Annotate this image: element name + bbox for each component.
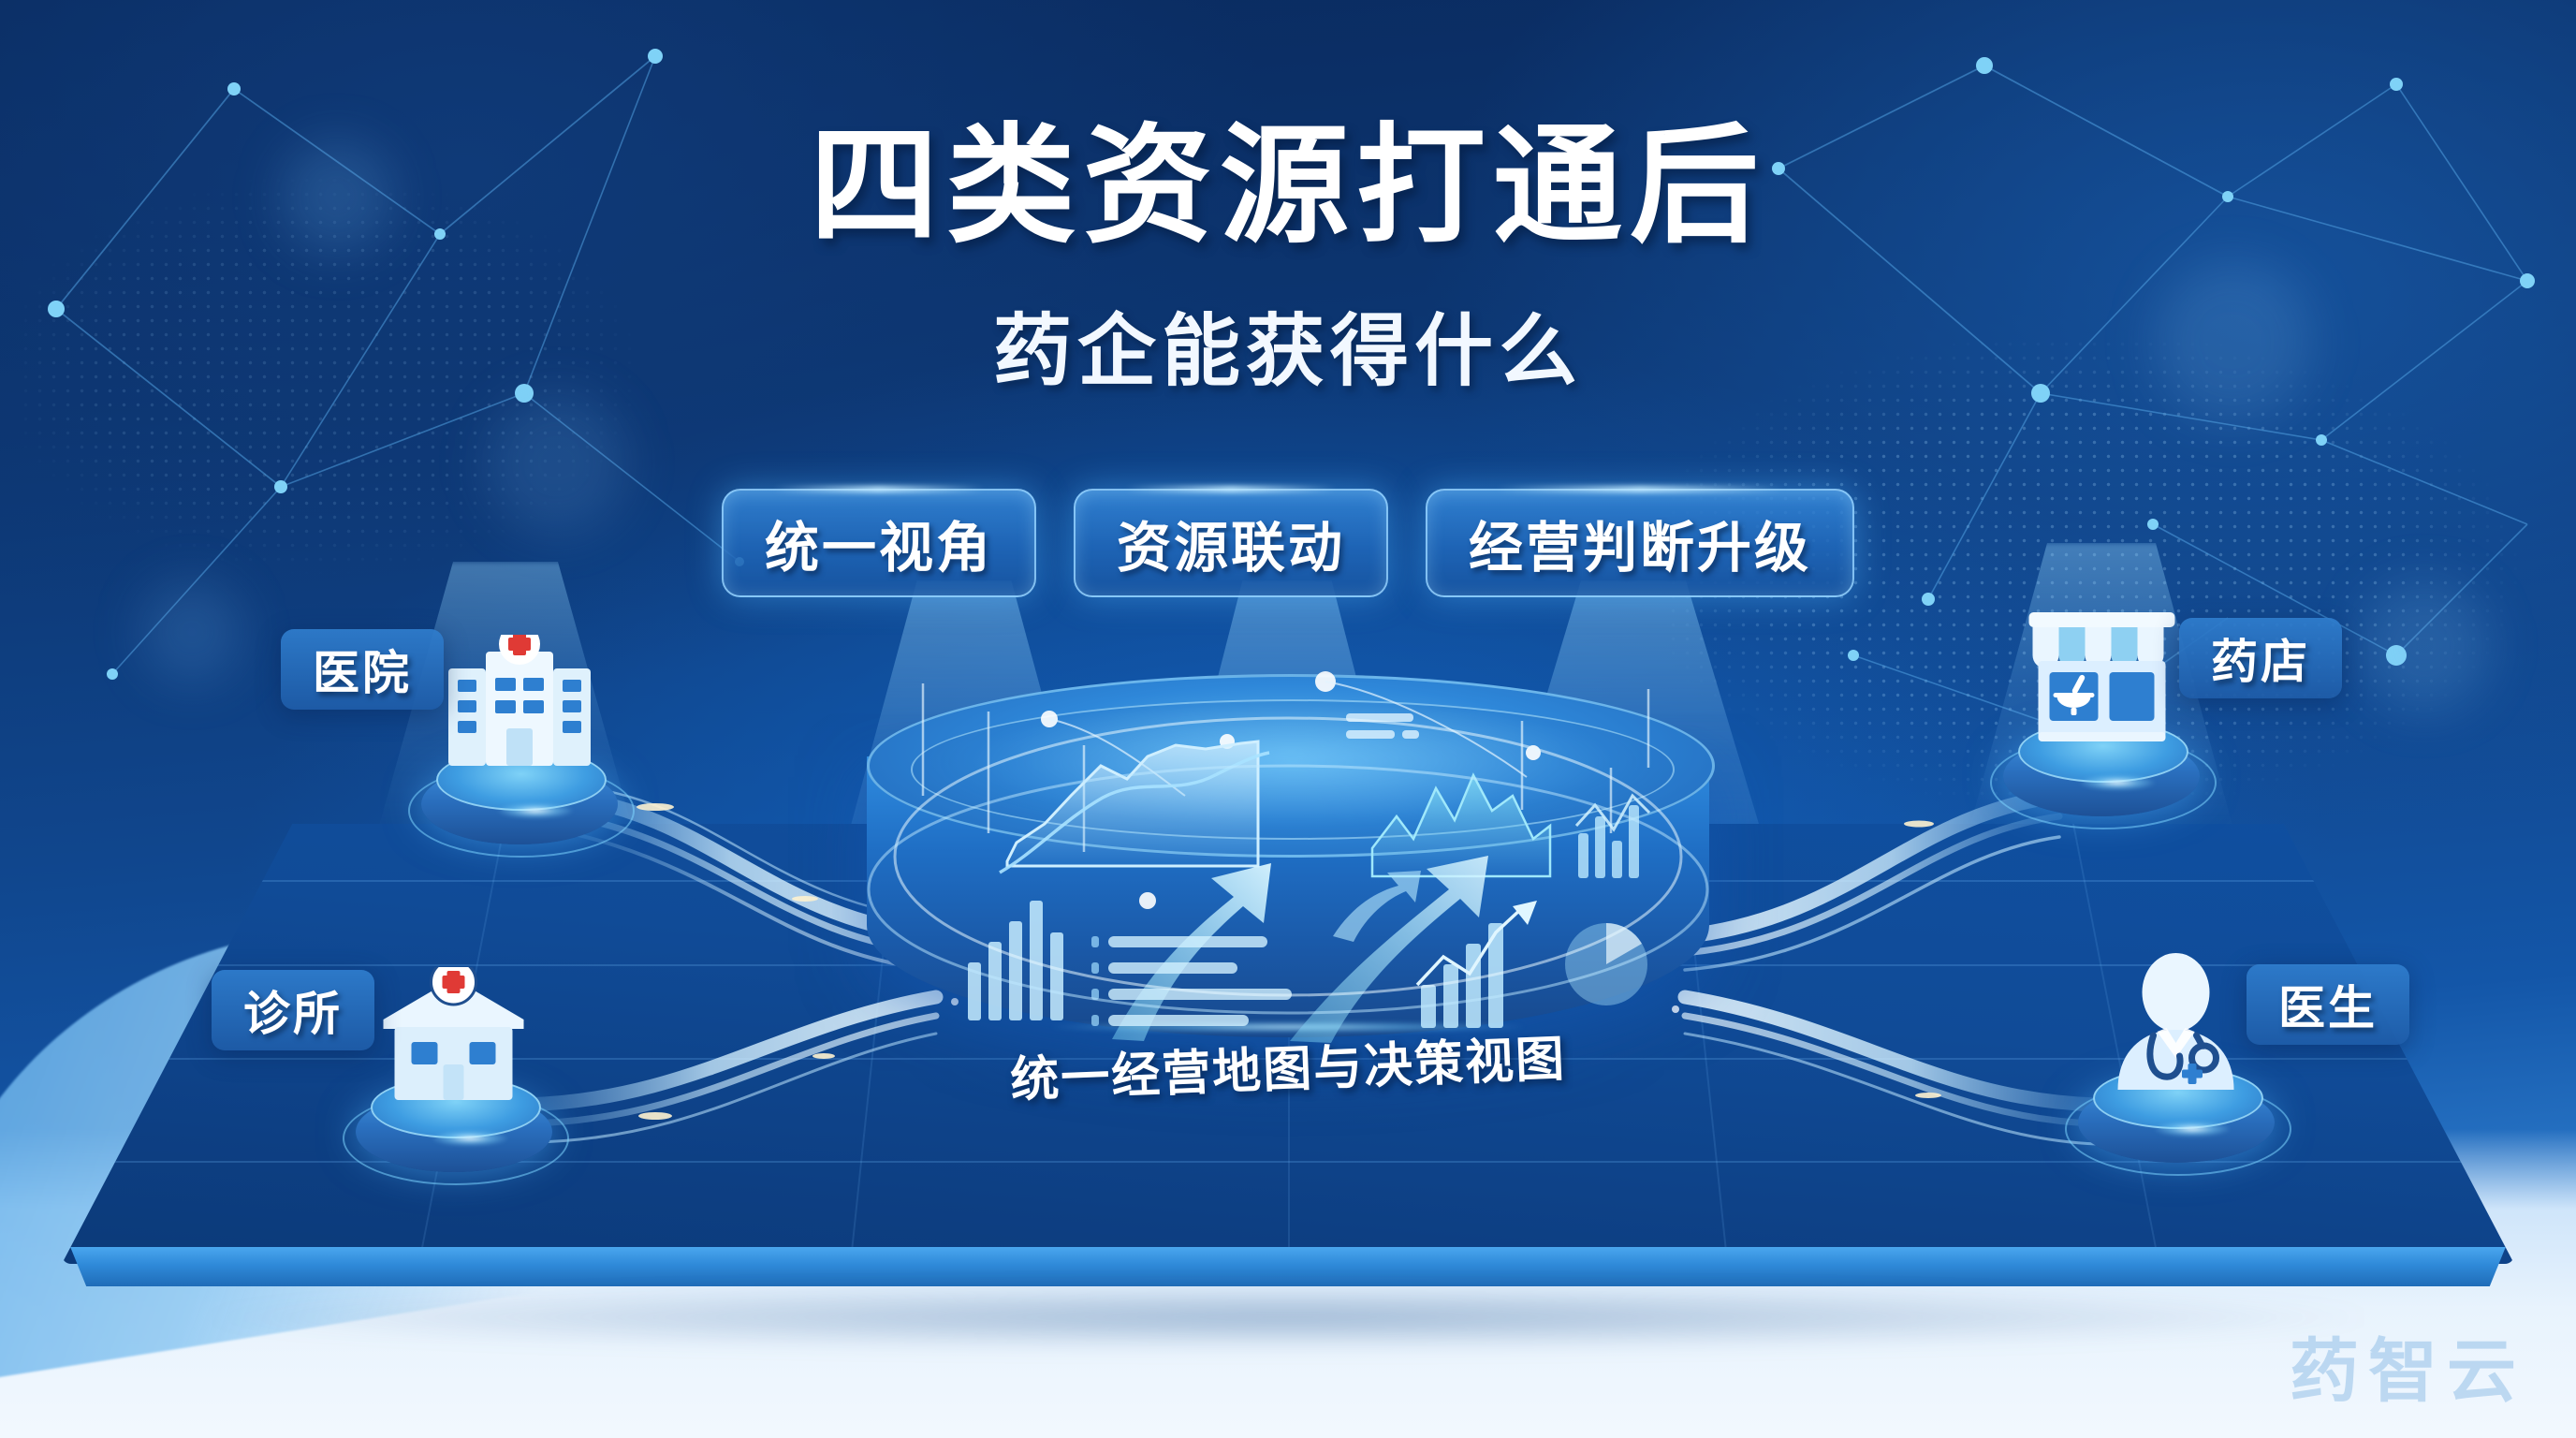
pill-label: 统一视角 <box>765 504 993 582</box>
benefit-pill-group: 统一视角 资源联动 经营判断升级 <box>722 489 1854 597</box>
hospital-building-icon <box>435 635 604 775</box>
pedestal-glow <box>498 803 573 818</box>
pedestal-glow <box>2155 1122 2230 1137</box>
holographic-dashboard-icon <box>867 655 1709 1049</box>
doctor-person-icon <box>2100 953 2254 1093</box>
pill-label: 经营判断升级 <box>1469 504 1811 582</box>
page-title: 四类资源打通后 <box>0 81 2576 268</box>
watermark-logo: 药智云 <box>2290 1315 2525 1416</box>
pedestal-glow <box>432 1131 507 1146</box>
infographic-canvas: 四类资源打通后 药企能获得什么 统一视角 资源联动 经营判断升级 <box>0 0 2576 1438</box>
resource-node-doctor[interactable]: 医生 <box>2069 955 2284 1170</box>
resource-node-hospital[interactable]: 医院 <box>412 637 627 852</box>
resource-node-clinic[interactable]: 诊所 <box>346 964 562 1180</box>
resource-node-pharmacy[interactable]: 药店 <box>1994 609 2209 824</box>
node-label-pharmacy: 药店 <box>2179 618 2342 698</box>
pedestal-glow <box>2080 775 2155 790</box>
node-label-hospital: 医院 <box>281 629 444 710</box>
node-label-text: 医院 <box>313 636 412 703</box>
benefit-pill-resource-linkage[interactable]: 资源联动 <box>1074 489 1388 597</box>
central-hub[interactable]: 统一经营地图与决策视图 <box>867 655 1709 1105</box>
node-label-doctor: 医生 <box>2247 964 2409 1045</box>
clinic-building-icon <box>373 967 536 1103</box>
benefit-pill-decision-upgrade[interactable]: 经营判断升级 <box>1426 489 1854 597</box>
node-label-text: 诊所 <box>243 976 343 1044</box>
platform-drop-shadow <box>209 1284 2367 1350</box>
node-label-text: 药店 <box>2211 624 2310 692</box>
page-subtitle: 药企能获得什么 <box>0 288 2576 402</box>
benefit-pill-unified-view[interactable]: 统一视角 <box>722 489 1036 597</box>
platform-edge-rim <box>62 1247 2514 1286</box>
pill-label: 资源联动 <box>1117 504 1345 582</box>
node-label-clinic: 诊所 <box>212 970 374 1050</box>
pharmacy-shop-icon <box>2020 607 2184 747</box>
node-label-text: 医生 <box>2278 971 2378 1038</box>
